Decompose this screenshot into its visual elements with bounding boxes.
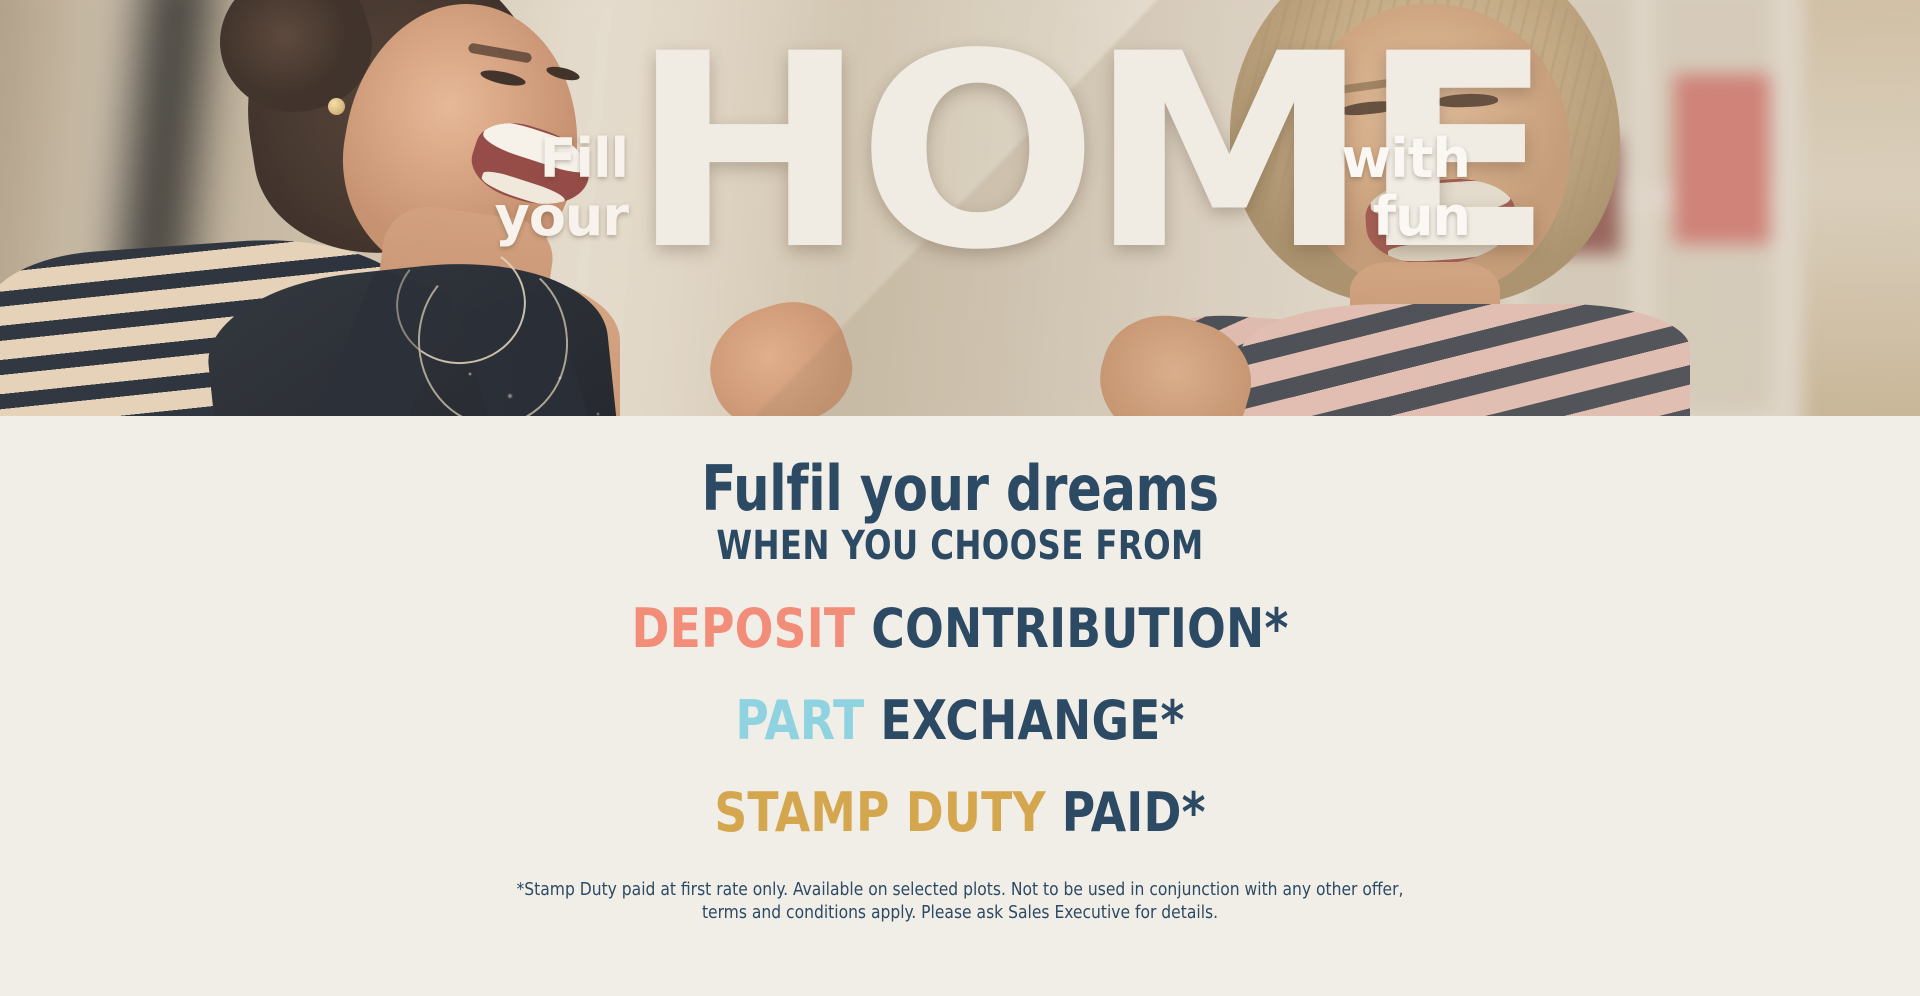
offer-highlight: DEPOSIT: [631, 597, 855, 660]
hero-fill-word: Fill: [448, 130, 628, 188]
offer-highlight: PART: [735, 689, 864, 752]
fineprint-line-2: terms and conditions apply. Please ask S…: [437, 901, 1483, 924]
offer-deposit-contribution: DEPOSIT CONTRIBUTION*: [58, 602, 1863, 656]
section-heading: Fulfil your dreams: [77, 458, 1843, 520]
offer-rest: CONTRIBUTION*: [855, 597, 1288, 660]
offer-rest: EXCHANGE*: [864, 689, 1184, 752]
offers-list: DEPOSIT CONTRIBUTION* PART EXCHANGE* STA…: [0, 602, 1920, 840]
hero-your-word: your: [448, 188, 628, 246]
hero-text-overlay: Fill your HOME with fun: [0, 0, 1920, 416]
offers-section: Fulfil your dreams WHEN YOU CHOOSE FROM …: [0, 416, 1920, 996]
offer-part-exchange: PART EXCHANGE*: [58, 694, 1863, 748]
hero-with-word: with: [1290, 130, 1470, 188]
offer-rest: PAID*: [1046, 781, 1206, 844]
offer-highlight: STAMP DUTY: [714, 781, 1045, 844]
hero-right-text: with fun: [1290, 130, 1470, 247]
fineprint-line-1: *Stamp Duty paid at first rate only. Ava…: [517, 879, 1404, 900]
offer-stamp-duty-paid: STAMP DUTY PAID*: [58, 786, 1863, 840]
section-subheading: WHEN YOU CHOOSE FROM: [96, 526, 1824, 566]
hero-image: Fill your HOME with fun: [0, 0, 1920, 416]
promotional-banner: Fill your HOME with fun Fulfil your drea…: [0, 0, 1920, 996]
hero-left-text: Fill your: [448, 130, 628, 247]
terms-fineprint: *Stamp Duty paid at first rate only. Ava…: [437, 878, 1483, 924]
hero-fun-word: fun: [1290, 188, 1470, 246]
